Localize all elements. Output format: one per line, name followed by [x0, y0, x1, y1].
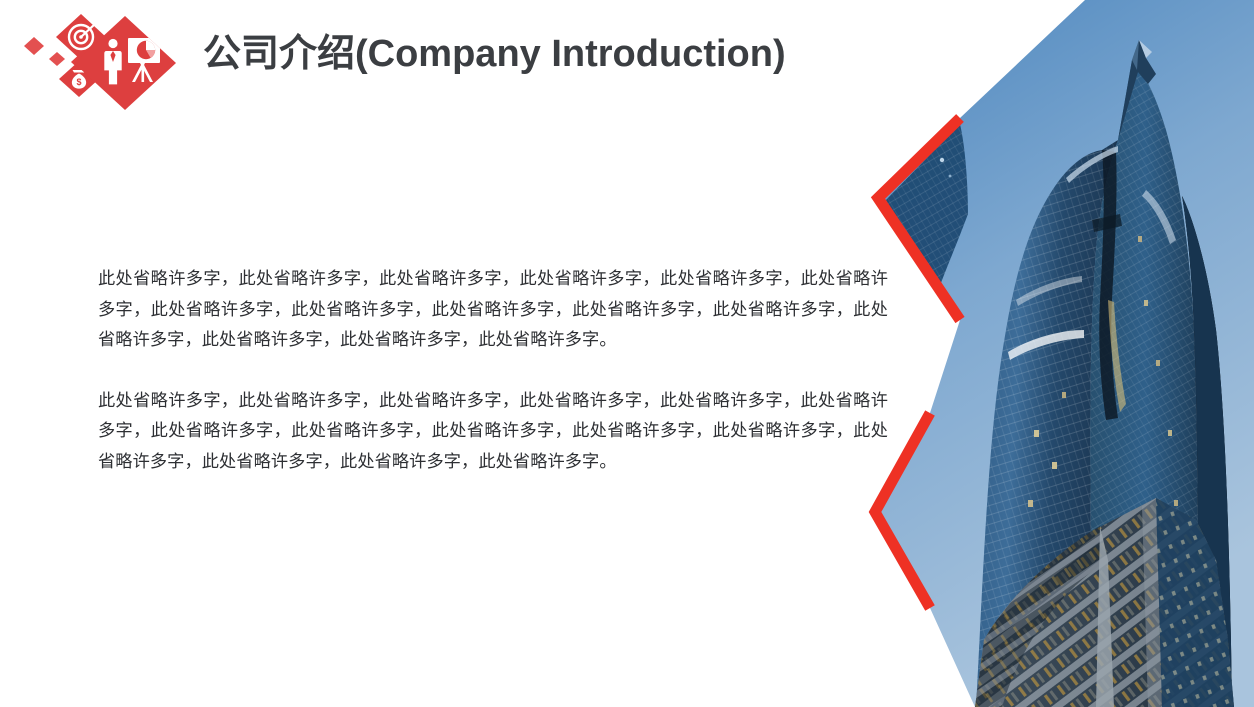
diamond-icon — [24, 37, 44, 55]
photo-content — [856, 0, 1254, 707]
body-copy: 此处省略许多字，此处省略许多字，此处省略许多字，此处省略许多字，此处省略许多字，… — [98, 263, 888, 476]
slide-canvas: $ — [0, 0, 1254, 707]
red-diamond-cluster: $ — [0, 0, 200, 110]
skyscraper-photo — [856, 0, 1254, 707]
diamond-icon — [49, 52, 65, 66]
page-title: 公司介绍(Company Introduction) — [203, 31, 786, 79]
paragraph: 此处省略许多字，此处省略许多字，此处省略许多字，此处省略许多字，此处省略许多字，… — [98, 263, 888, 355]
svg-text:$: $ — [76, 77, 81, 87]
paragraph: 此处省略许多字，此处省略许多字，此处省略许多字，此处省略许多字，此处省略许多字，… — [98, 385, 888, 477]
